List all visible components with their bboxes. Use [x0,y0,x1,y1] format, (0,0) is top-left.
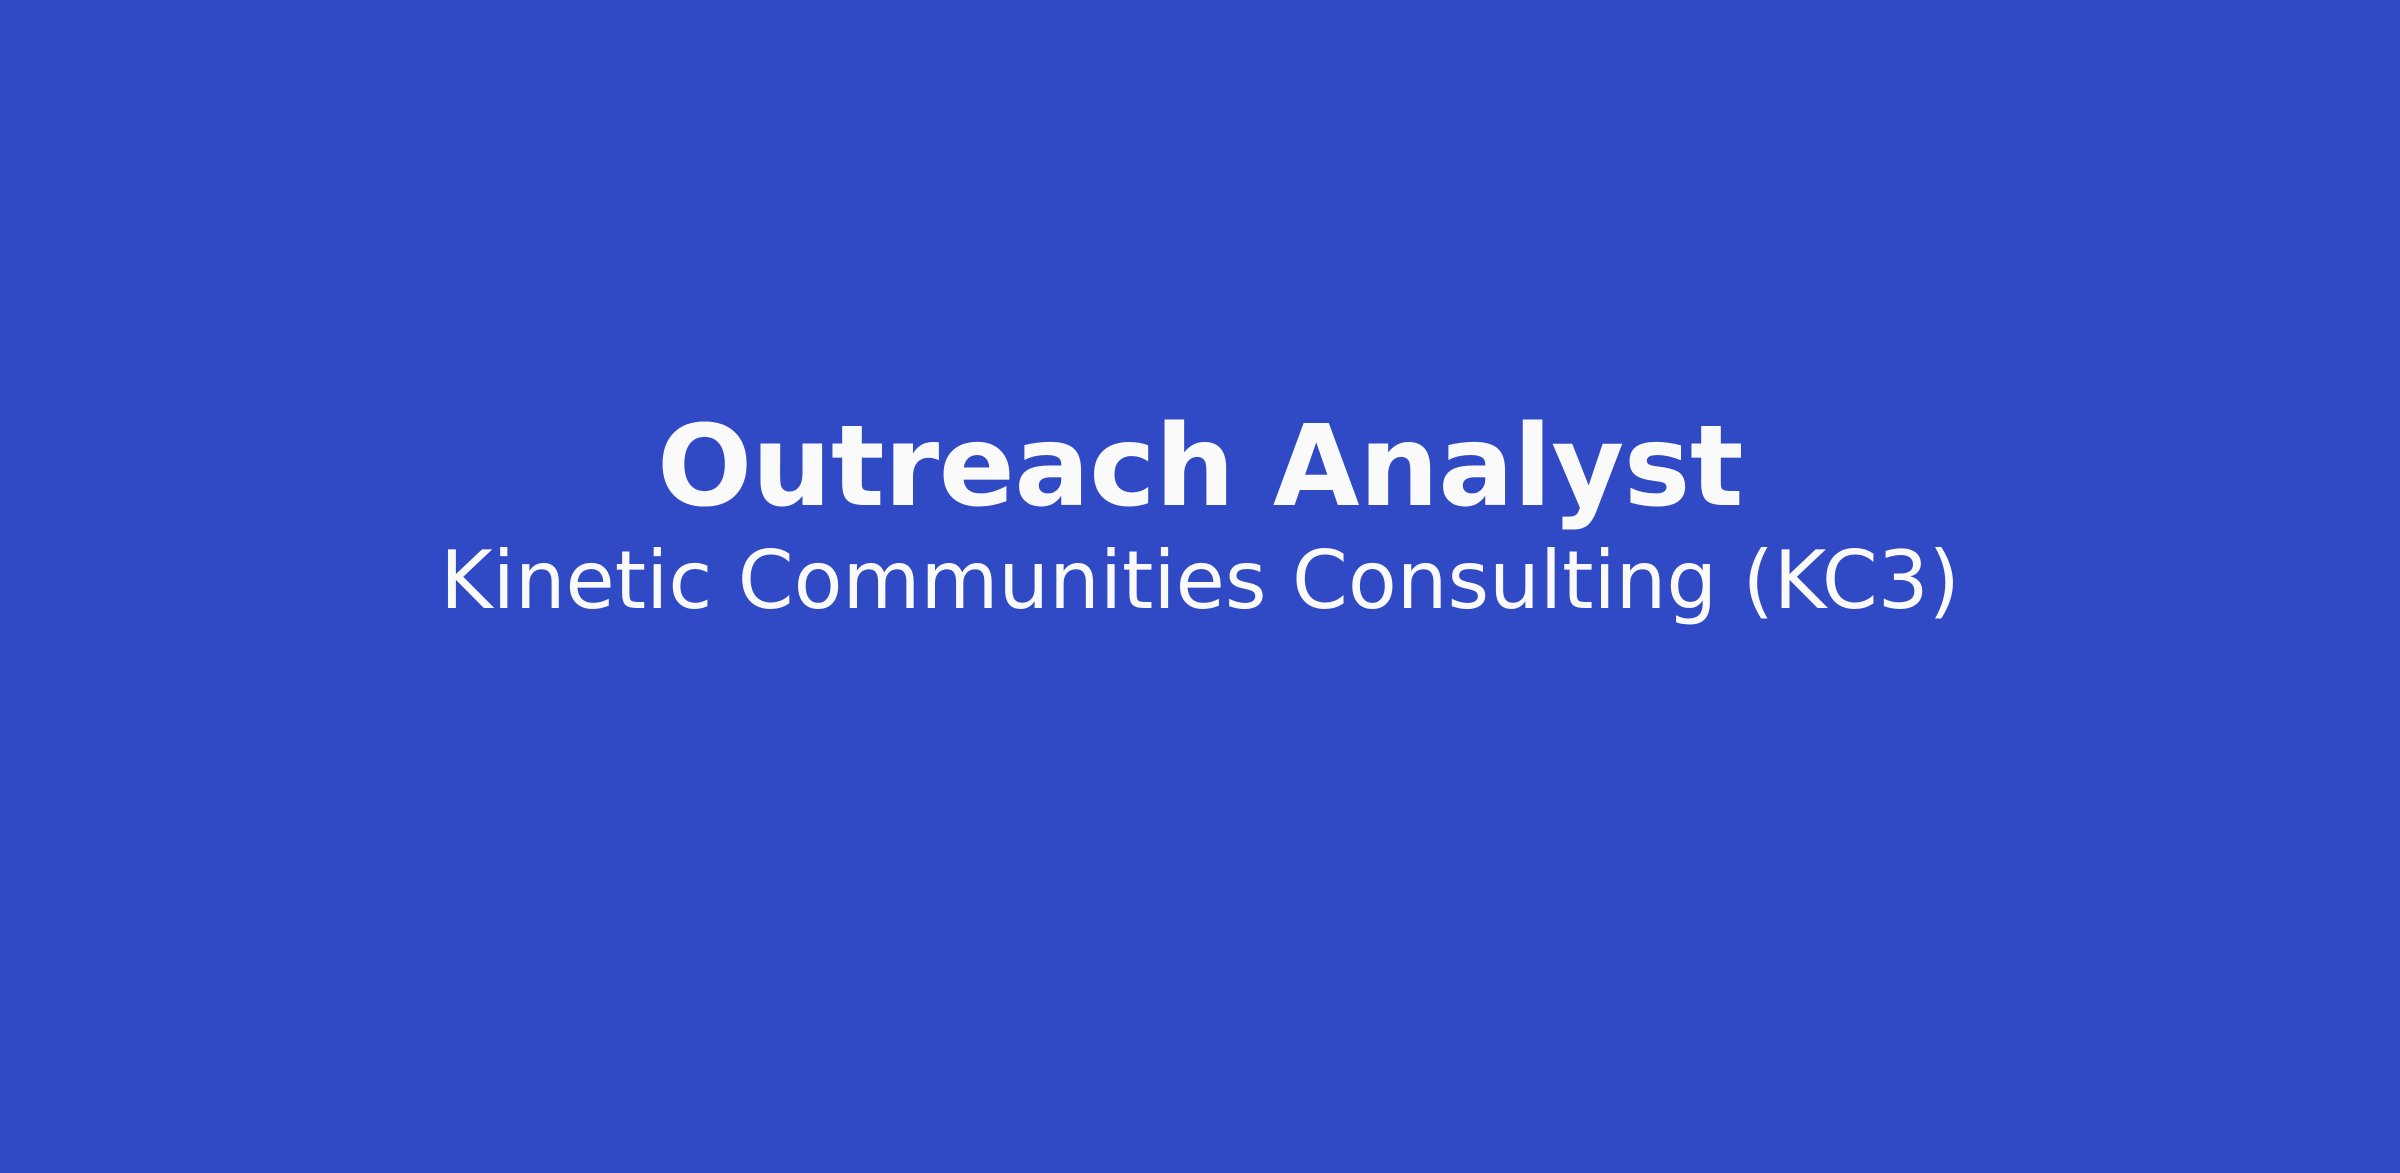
title-block: Outreach Analyst Kinetic Communities Con… [0,411,2400,623]
page-subtitle: Kinetic Communities Consulting (KC3) [440,539,1960,623]
page-title: Outreach Analyst [657,411,1743,523]
title-slide: Outreach Analyst Kinetic Communities Con… [0,0,2400,1173]
